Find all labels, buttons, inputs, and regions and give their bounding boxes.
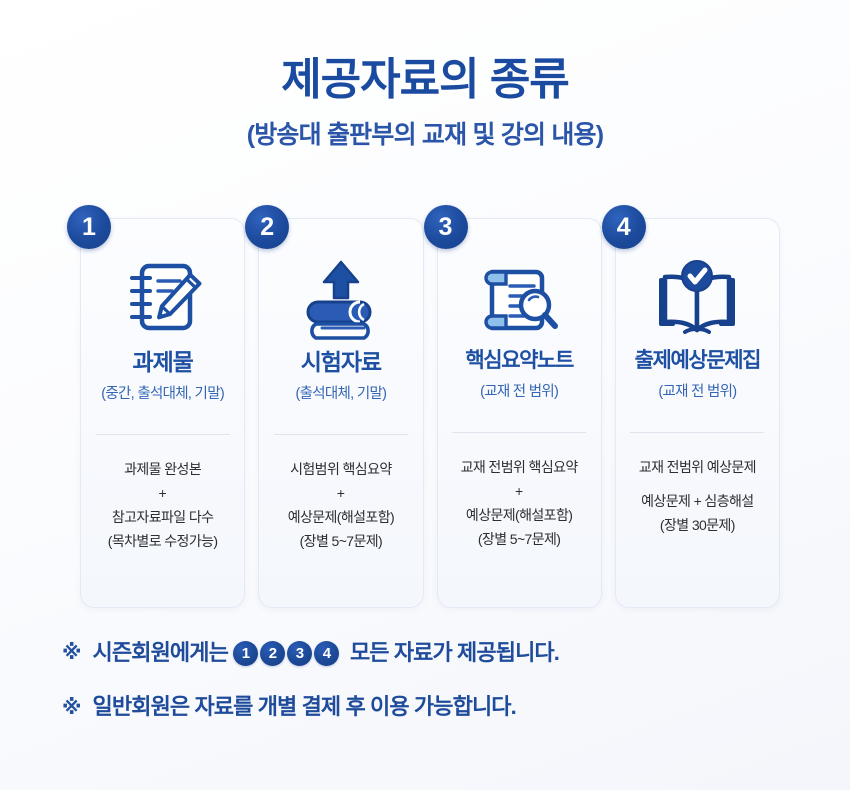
note-number-badge: 2 (260, 641, 285, 666)
note-number-badge: 3 (287, 641, 312, 666)
note-number-badge: 4 (314, 641, 339, 666)
card-item[interactable]: 4 출제예상문제집 (교재 전 범위) 교재 전범위 예상문제 (615, 218, 780, 608)
card-detail-line: + (461, 479, 578, 503)
card-detail-line: (장별 5~7문제) (288, 529, 394, 553)
card-detail-line: 예상문제 + 심층해설 (639, 489, 756, 513)
card-list: 1 (80, 218, 780, 608)
note-item: ※ 일반회원은 자료를 개별 결제 후 이용 가능합니다. (62, 694, 802, 720)
card-item[interactable]: 2 시험자료 (출석대체, 기말) 시험범위 핵심요약 + 예상문제(해설포함)… (258, 218, 423, 608)
card-title: 과제물 (133, 349, 193, 375)
card-number-badge: 2 (245, 205, 289, 249)
page-title: 제공자료의 종류 (0, 54, 850, 106)
card-item[interactable]: 3 핵심요약노트 (교재 전 범 (437, 218, 602, 608)
card-subtitle: (출석대체, 기말) (295, 386, 386, 403)
card-detail-line: 교재 전범위 핵심요약 (461, 455, 578, 479)
card-subtitle: (교재 전 범위) (480, 384, 558, 401)
card-detail-line: 과제물 완성본 (108, 457, 218, 481)
card-item[interactable]: 1 (80, 218, 245, 608)
note-item: ※ 시즌회원에게는 1 2 3 4 모든 자료가 제공됩니다. (62, 640, 802, 666)
open-book-check-icon (651, 251, 743, 347)
card-detail-line: + (108, 481, 218, 505)
card-subtitle: (중간, 출석대체, 기말) (101, 386, 224, 403)
card-divider (630, 432, 764, 433)
footer-notes: ※ 시즌회원에게는 1 2 3 4 모든 자료가 제공됩니다. ※ 일반회원은 … (62, 640, 802, 721)
card-detail: 교재 전범위 예상문제 예상문제 + 심층해설 (장별 30문제) (639, 455, 756, 537)
card-detail: 시험범위 핵심요약 + 예상문제(해설포함) (장별 5~7문제) (288, 457, 394, 553)
card-detail-line: 예상문제(해설포함) (288, 505, 394, 529)
infographic-page: 제공자료의 종류 (방송대 출판부의 교재 및 강의 내용) 1 (0, 0, 850, 790)
card-divider (96, 434, 230, 435)
card-detail-line: (장별 5~7문제) (461, 527, 578, 551)
note-number-badge: 1 (233, 641, 258, 666)
card-title: 핵심요약노트 (465, 349, 573, 373)
note-text-before: 시즌회원에게는 (93, 640, 228, 666)
card-detail-line: (장별 30문제) (639, 513, 756, 537)
card-title: 출제예상문제집 (635, 349, 760, 373)
card-title: 시험자료 (301, 349, 381, 375)
note-badge-group: 1 2 3 4 (233, 641, 341, 666)
reference-mark-icon: ※ (62, 641, 81, 665)
card-detail-line: 시험범위 핵심요약 (288, 457, 394, 481)
card-detail: 과제물 완성본 + 참고자료파일 다수 (목차별로 수정가능) (108, 457, 218, 553)
header: 제공자료의 종류 (방송대 출판부의 교재 및 강의 내용) (0, 0, 850, 150)
note-text-before: 일반회원은 자료를 개별 결제 후 이용 가능합니다. (93, 694, 516, 720)
card-detail-line: 예상문제(해설포함) (461, 503, 578, 527)
card-subtitle: (교재 전 범위) (658, 384, 736, 401)
card-divider (274, 434, 408, 435)
card-detail-spacer (639, 479, 756, 489)
document-magnifier-icon (476, 251, 562, 347)
notebook-pencil-icon (120, 251, 206, 347)
card-detail: 교재 전범위 핵심요약 + 예상문제(해설포함) (장별 5~7문제) (461, 455, 578, 551)
card-detail-line: + (288, 481, 394, 505)
card-detail-line: (목차별로 수정가능) (108, 529, 218, 553)
page-subtitle: (방송대 출판부의 교재 및 강의 내용) (0, 120, 850, 150)
card-number-badge: 3 (424, 205, 468, 249)
reference-mark-icon: ※ (62, 696, 81, 720)
card-detail-line: 참고자료파일 다수 (108, 505, 218, 529)
card-detail-line: 교재 전범위 예상문제 (639, 455, 756, 479)
card-number-badge: 1 (67, 205, 111, 249)
note-text-after: 모든 자료가 제공됩니다. (350, 640, 559, 666)
card-divider (452, 432, 586, 433)
card-number-badge: 4 (602, 205, 646, 249)
books-arrow-up-icon (298, 251, 384, 347)
